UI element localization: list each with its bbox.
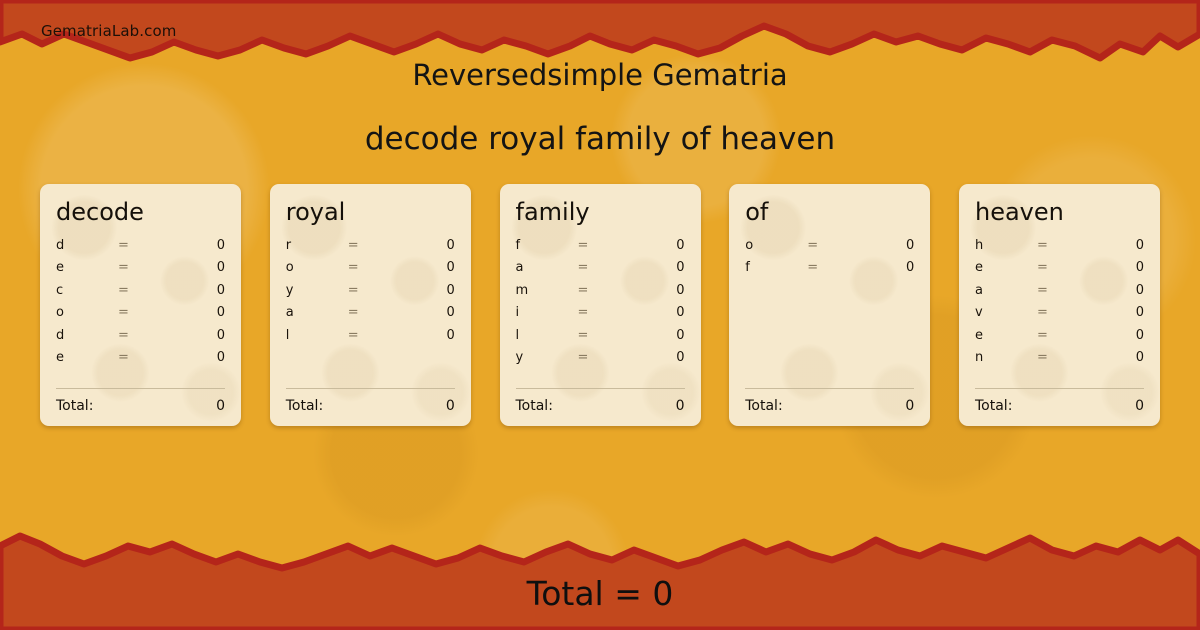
letter-value: 0 xyxy=(425,328,455,343)
card-divider xyxy=(516,388,685,389)
letter-row: h=0 xyxy=(975,238,1144,261)
letter-value: 0 xyxy=(1114,305,1144,320)
letter-value: 0 xyxy=(1114,260,1144,275)
letter-char: y xyxy=(516,350,578,365)
letter-row: m=0 xyxy=(516,283,685,306)
card-total-label: Total: xyxy=(56,398,93,414)
card-divider xyxy=(975,388,1144,389)
card-word-heading: royal xyxy=(286,198,455,227)
letter-char: e xyxy=(975,260,1037,275)
letter-char: o xyxy=(56,305,118,320)
equals-sign: = xyxy=(348,305,425,320)
equals-sign: = xyxy=(348,328,425,343)
card-word-heading: decode xyxy=(56,198,225,227)
letter-row: e=0 xyxy=(56,260,225,283)
letter-row: f=0 xyxy=(745,260,914,283)
equals-sign: = xyxy=(348,283,425,298)
letter-char: l xyxy=(286,328,348,343)
letter-char: d xyxy=(56,238,118,253)
letter-char: e xyxy=(975,328,1037,343)
card-total-label: Total: xyxy=(975,398,1012,414)
letter-value: 0 xyxy=(195,350,225,365)
letter-row: l=0 xyxy=(286,328,455,351)
letter-char: v xyxy=(975,305,1037,320)
site-logo[interactable]: GematriaLab.com xyxy=(41,22,176,40)
letter-value: 0 xyxy=(195,305,225,320)
letter-value: 0 xyxy=(655,238,685,253)
card-total-row: Total:0 xyxy=(286,398,455,414)
grand-total: Total = 0 xyxy=(0,574,1200,613)
letter-row: y=0 xyxy=(516,350,685,373)
card-total-value: 0 xyxy=(446,398,455,414)
letter-row: a=0 xyxy=(975,283,1144,306)
equals-sign: = xyxy=(578,283,655,298)
letter-char: e xyxy=(56,260,118,275)
letter-value: 0 xyxy=(195,238,225,253)
letter-char: a xyxy=(975,283,1037,298)
letter-row: v=0 xyxy=(975,305,1144,328)
letter-value: 0 xyxy=(195,328,225,343)
letter-char: m xyxy=(516,283,578,298)
letter-value: 0 xyxy=(425,238,455,253)
letter-char: r xyxy=(286,238,348,253)
letter-row: r=0 xyxy=(286,238,455,261)
letter-value: 0 xyxy=(884,260,914,275)
letter-char: i xyxy=(516,305,578,320)
letter-value: 0 xyxy=(655,350,685,365)
card-word-heading: family xyxy=(516,198,685,227)
letter-char: f xyxy=(745,260,807,275)
equals-sign: = xyxy=(1037,328,1114,343)
equals-sign: = xyxy=(1037,350,1114,365)
letter-char: y xyxy=(286,283,348,298)
card-total-value: 0 xyxy=(905,398,914,414)
letter-value: 0 xyxy=(1114,283,1144,298)
letter-row: i=0 xyxy=(516,305,685,328)
letter-value: 0 xyxy=(655,328,685,343)
card-divider xyxy=(286,388,455,389)
letter-char: o xyxy=(286,260,348,275)
letter-value-list: f=0a=0m=0i=0l=0y=0 xyxy=(516,238,685,388)
letter-value: 0 xyxy=(425,283,455,298)
letter-char: l xyxy=(516,328,578,343)
card-divider xyxy=(745,388,914,389)
letter-value-list: d=0e=0c=0o=0d=0e=0 xyxy=(56,238,225,388)
letter-value: 0 xyxy=(655,305,685,320)
phrase-subtitle: decode royal family of heaven xyxy=(0,121,1200,157)
letter-value: 0 xyxy=(655,283,685,298)
letter-value: 0 xyxy=(1114,328,1144,343)
letter-row: f=0 xyxy=(516,238,685,261)
word-cards-row: decoded=0e=0c=0o=0d=0e=0Total:0royalr=0o… xyxy=(40,184,1160,426)
letter-char: f xyxy=(516,238,578,253)
letter-row: o=0 xyxy=(56,305,225,328)
letter-char: e xyxy=(56,350,118,365)
letter-value: 0 xyxy=(1114,350,1144,365)
page-title: Reversedsimple Gematria xyxy=(0,58,1200,92)
equals-sign: = xyxy=(578,260,655,275)
letter-value: 0 xyxy=(425,260,455,275)
card-word-heading: of xyxy=(745,198,914,227)
letter-row: e=0 xyxy=(975,328,1144,351)
letter-row: l=0 xyxy=(516,328,685,351)
equals-sign: = xyxy=(118,260,195,275)
card-total-label: Total: xyxy=(516,398,553,414)
letter-row: o=0 xyxy=(745,238,914,261)
equals-sign: = xyxy=(578,238,655,253)
letter-row: d=0 xyxy=(56,328,225,351)
equals-sign: = xyxy=(348,238,425,253)
word-card: ofo=0f=0Total:0 xyxy=(729,184,930,426)
letter-value-list: r=0o=0y=0a=0l=0 xyxy=(286,238,455,388)
letter-row: n=0 xyxy=(975,350,1144,373)
equals-sign: = xyxy=(578,350,655,365)
equals-sign: = xyxy=(118,305,195,320)
card-total-value: 0 xyxy=(1135,398,1144,414)
letter-char: c xyxy=(56,283,118,298)
card-total-row: Total:0 xyxy=(745,398,914,414)
card-total-row: Total:0 xyxy=(56,398,225,414)
word-card: royalr=0o=0y=0a=0l=0Total:0 xyxy=(270,184,471,426)
equals-sign: = xyxy=(807,260,884,275)
equals-sign: = xyxy=(1037,260,1114,275)
letter-char: d xyxy=(56,328,118,343)
letter-row: e=0 xyxy=(56,350,225,373)
letter-row: o=0 xyxy=(286,260,455,283)
equals-sign: = xyxy=(118,350,195,365)
card-total-value: 0 xyxy=(676,398,685,414)
letter-value: 0 xyxy=(884,238,914,253)
card-total-label: Total: xyxy=(745,398,782,414)
letter-value: 0 xyxy=(195,260,225,275)
equals-sign: = xyxy=(348,260,425,275)
letter-value: 0 xyxy=(1114,238,1144,253)
word-card: heavenh=0e=0a=0v=0e=0n=0Total:0 xyxy=(959,184,1160,426)
card-total-row: Total:0 xyxy=(975,398,1144,414)
letter-value: 0 xyxy=(195,283,225,298)
gematria-result-canvas: GematriaLab.com Reversedsimple Gematria … xyxy=(0,0,1200,630)
letter-row: d=0 xyxy=(56,238,225,261)
card-word-heading: heaven xyxy=(975,198,1144,227)
equals-sign: = xyxy=(807,238,884,253)
equals-sign: = xyxy=(578,305,655,320)
letter-value: 0 xyxy=(655,260,685,275)
letter-value: 0 xyxy=(425,305,455,320)
letter-char: h xyxy=(975,238,1037,253)
letter-value-list: h=0e=0a=0v=0e=0n=0 xyxy=(975,238,1144,388)
card-total-row: Total:0 xyxy=(516,398,685,414)
letter-char: a xyxy=(286,305,348,320)
word-card: familyf=0a=0m=0i=0l=0y=0Total:0 xyxy=(500,184,701,426)
letter-char: o xyxy=(745,238,807,253)
card-total-value: 0 xyxy=(216,398,225,414)
card-total-label: Total: xyxy=(286,398,323,414)
letter-row: a=0 xyxy=(516,260,685,283)
equals-sign: = xyxy=(118,283,195,298)
equals-sign: = xyxy=(1037,238,1114,253)
equals-sign: = xyxy=(118,328,195,343)
word-card: decoded=0e=0c=0o=0d=0e=0Total:0 xyxy=(40,184,241,426)
letter-char: a xyxy=(516,260,578,275)
letter-char: n xyxy=(975,350,1037,365)
equals-sign: = xyxy=(578,328,655,343)
equals-sign: = xyxy=(1037,283,1114,298)
letter-row: y=0 xyxy=(286,283,455,306)
letter-row: a=0 xyxy=(286,305,455,328)
letter-row: c=0 xyxy=(56,283,225,306)
equals-sign: = xyxy=(118,238,195,253)
equals-sign: = xyxy=(1037,305,1114,320)
letter-value-list: o=0f=0 xyxy=(745,238,914,388)
letter-row: e=0 xyxy=(975,260,1144,283)
card-divider xyxy=(56,388,225,389)
